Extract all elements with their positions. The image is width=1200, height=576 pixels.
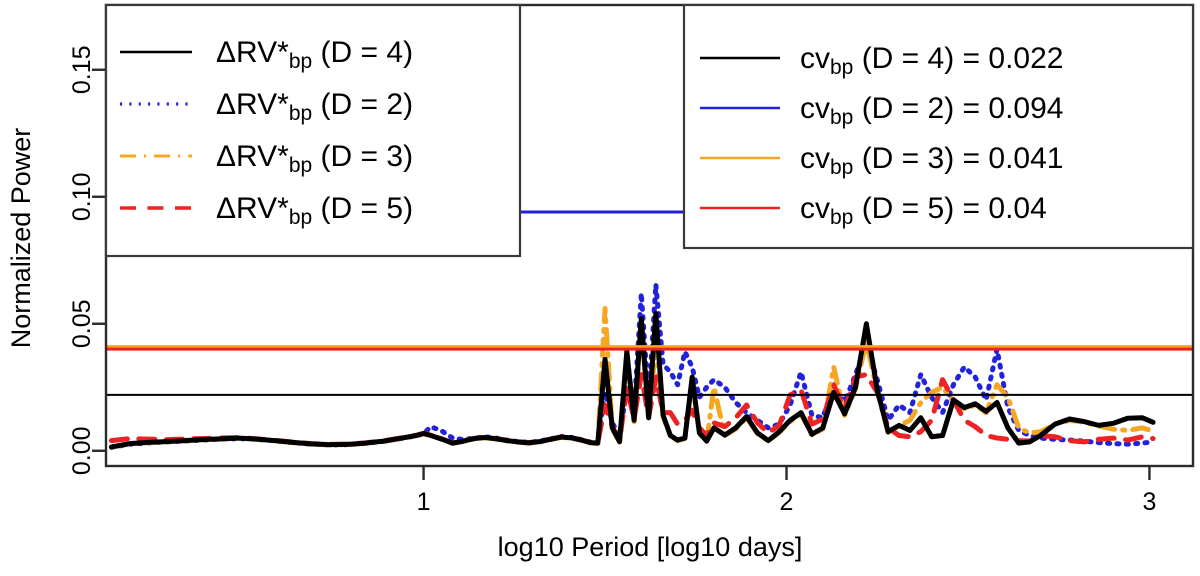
y-axis-title: Normalized Power [6, 128, 36, 349]
legend-label: ΔRV*bp (D = 4) [216, 36, 413, 73]
x-axis-title: log10 Period [log10 days] [498, 532, 803, 562]
figure-root: Normalized Power log10 Period [log10 day… [0, 0, 1200, 576]
legend-label: ΔRV*bp (D = 3) [216, 140, 413, 177]
legend-label: ΔRV*bp (D = 2) [216, 88, 413, 125]
legend-right[interactable]: cvbp (D = 4) = 0.022cvbp (D = 2) = 0.094… [684, 5, 1193, 248]
x-tick-label: 2 [780, 488, 794, 516]
y-tick-label: 0.00 [68, 426, 96, 475]
normalized-power-periodogram: Normalized Power log10 Period [log10 day… [0, 0, 1200, 576]
y-tick-label: 0.05 [68, 299, 96, 348]
x-tick-label: 1 [417, 488, 431, 516]
y-tick-label: 0.10 [68, 172, 96, 221]
legend-label: ΔRV*bp (D = 5) [216, 192, 413, 229]
legend-left[interactable]: ΔRV*bp (D = 4)ΔRV*bp (D = 2)ΔRV*bp (D = … [106, 5, 520, 256]
y-tick-label: 0.15 [68, 45, 96, 94]
x-tick-label: 3 [1142, 488, 1156, 516]
